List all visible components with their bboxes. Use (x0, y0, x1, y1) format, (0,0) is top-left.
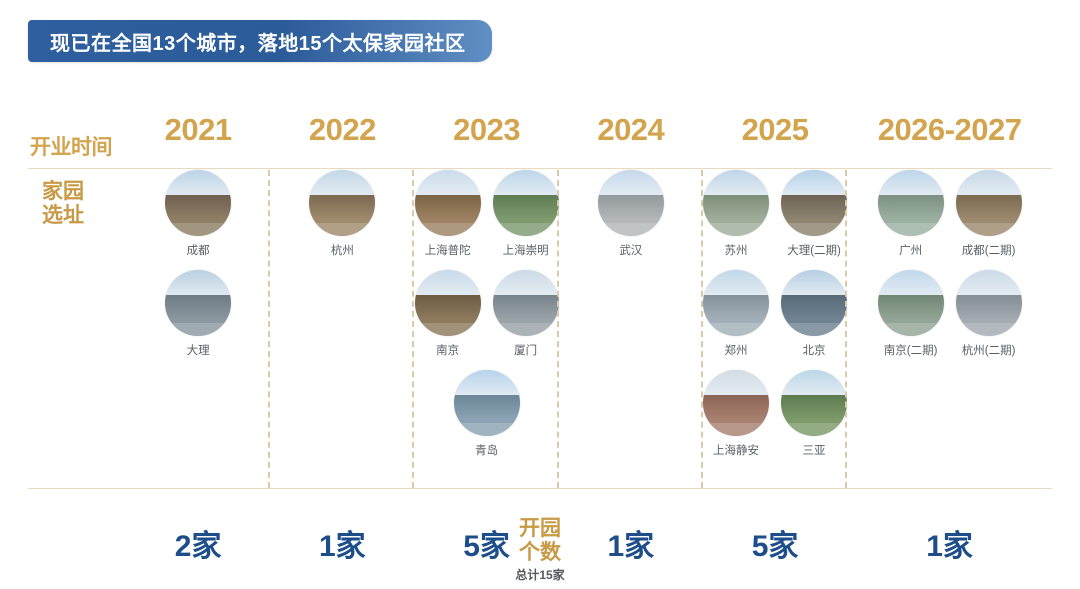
site-photo (781, 170, 847, 236)
site-row: 成都 (165, 170, 231, 258)
open-count: 1家 (270, 521, 414, 565)
site-photo (781, 370, 847, 436)
site-photo (703, 370, 769, 436)
site-photo (703, 170, 769, 236)
site-name: 大理 (187, 342, 210, 358)
site-name: 上海崇明 (503, 242, 549, 258)
open-count: 2家 (126, 521, 270, 565)
site-item[interactable]: 成都(二期) (956, 170, 1022, 258)
site-row: 苏州大理(二期) (703, 170, 847, 258)
year-column: 2023上海普陀上海崇明南京厦门青岛5家 (414, 84, 558, 589)
row-label-site-line1: 家园 (42, 180, 84, 204)
site-photo (878, 270, 944, 336)
year-heading: 2024 (597, 108, 664, 152)
year-columns: 2021成都大理2家2022杭州1家2023上海普陀上海崇明南京厦门青岛5家20… (126, 84, 1052, 589)
site-item[interactable]: 武汉 (598, 170, 664, 258)
site-item[interactable]: 厦门 (493, 270, 559, 358)
year-heading: 2023 (453, 108, 520, 152)
banner-title: 现已在全国13个城市，落地15个太保家园社区 (50, 27, 466, 56)
timeline-grid: 开业 时间 家园 选址 开园 个数 总计15家 2021成都大理2家2022杭州… (0, 84, 1080, 589)
site-item[interactable]: 苏州 (703, 170, 769, 258)
row-label-site: 家园 选址 (30, 180, 96, 229)
site-item[interactable]: 广州 (878, 170, 944, 258)
site-row: 南京厦门 (415, 270, 559, 358)
site-item[interactable]: 大理 (165, 270, 231, 358)
site-photo (493, 270, 559, 336)
year-column: 2026-2027广州成都(二期)南京(二期)杭州(二期)1家 (847, 84, 1052, 589)
year-column: 2021成都大理2家 (126, 84, 270, 589)
site-photo (703, 270, 769, 336)
site-photo (598, 170, 664, 236)
site-item[interactable]: 上海崇明 (493, 170, 559, 258)
row-label-open-time-line2: 时间 (71, 136, 112, 160)
title-banner: 现已在全国13个城市，落地15个太保家园社区 (28, 20, 492, 62)
site-photo (878, 170, 944, 236)
site-item[interactable]: 上海静安 (703, 370, 769, 458)
site-name: 青岛 (475, 442, 498, 458)
site-row: 南京(二期)杭州(二期) (878, 270, 1022, 358)
open-count: 1家 (847, 521, 1052, 565)
open-count: 1家 (559, 521, 703, 565)
site-photo (781, 270, 847, 336)
site-name: 郑州 (725, 342, 748, 358)
site-row: 上海静安三亚 (703, 370, 847, 458)
site-photo (454, 370, 520, 436)
site-photo (415, 270, 481, 336)
site-name: 成都 (187, 242, 210, 258)
site-name: 三亚 (803, 442, 826, 458)
site-row: 广州成都(二期) (878, 170, 1022, 258)
site-item[interactable]: 杭州(二期) (956, 270, 1022, 358)
row-label-open-time: 开业 时间 (30, 126, 112, 170)
site-row: 青岛 (454, 370, 520, 458)
site-name: 上海普陀 (425, 242, 471, 258)
site-name: 广州 (899, 242, 922, 258)
site-row: 郑州北京 (703, 270, 847, 358)
year-heading: 2022 (309, 108, 376, 152)
year-column: 2025苏州大理(二期)郑州北京上海静安三亚5家 (703, 84, 847, 589)
row-label-open-time-line1: 开业 (30, 136, 71, 160)
site-name: 成都(二期) (962, 242, 1016, 258)
site-item[interactable]: 南京(二期) (878, 270, 944, 358)
site-row: 杭州 (309, 170, 375, 258)
open-count: 5家 (703, 521, 847, 565)
year-heading: 2026-2027 (878, 108, 1022, 152)
site-item[interactable]: 上海普陀 (415, 170, 481, 258)
site-name: 厦门 (514, 342, 537, 358)
site-name: 武汉 (619, 242, 642, 258)
site-name: 杭州(二期) (962, 342, 1016, 358)
site-photo (309, 170, 375, 236)
site-name: 上海静安 (713, 442, 759, 458)
site-name: 南京(二期) (884, 342, 938, 358)
open-count: 5家 (414, 521, 558, 565)
site-item[interactable]: 南京 (415, 270, 481, 358)
site-row: 武汉 (598, 170, 664, 258)
site-photo (165, 270, 231, 336)
year-heading: 2021 (165, 108, 232, 152)
site-name: 大理(二期) (787, 242, 841, 258)
site-photo (956, 170, 1022, 236)
site-photo (415, 170, 481, 236)
site-name: 北京 (803, 342, 826, 358)
year-column: 2024武汉1家 (559, 84, 703, 589)
year-heading: 2025 (742, 108, 809, 152)
site-item[interactable]: 大理(二期) (781, 170, 847, 258)
site-item[interactable]: 郑州 (703, 270, 769, 358)
site-photo (165, 170, 231, 236)
site-item[interactable]: 青岛 (454, 370, 520, 458)
site-name: 南京 (436, 342, 459, 358)
year-column: 2022杭州1家 (270, 84, 414, 589)
site-photo (956, 270, 1022, 336)
site-item[interactable]: 杭州 (309, 170, 375, 258)
site-photo (493, 170, 559, 236)
site-name: 苏州 (725, 242, 748, 258)
site-item[interactable]: 三亚 (781, 370, 847, 458)
site-row: 上海普陀上海崇明 (415, 170, 559, 258)
site-item[interactable]: 北京 (781, 270, 847, 358)
site-row: 大理 (165, 270, 231, 358)
site-name: 杭州 (331, 242, 354, 258)
row-label-site-line2: 选址 (42, 204, 84, 228)
site-item[interactable]: 成都 (165, 170, 231, 258)
